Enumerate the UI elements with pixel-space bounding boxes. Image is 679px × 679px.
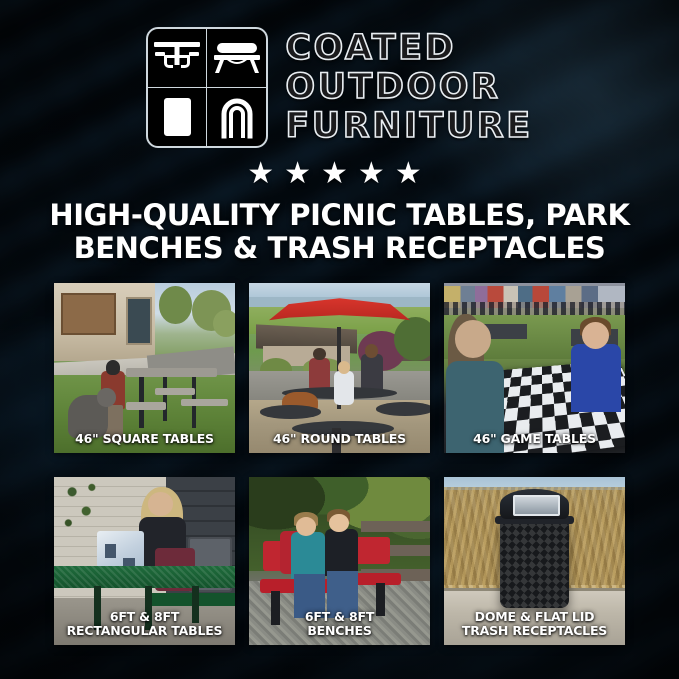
product-banner-poster: COATED OUTDOOR FURNITURE ★★★★★ HIGH-QUAL… xyxy=(0,0,679,679)
product-tile-trash-receptacles[interactable]: DOME & FLAT LID TRASH RECEPTACLES xyxy=(444,477,625,645)
tile-caption-line-1: 46" ROUND TABLES xyxy=(253,432,426,446)
park-bench-icon xyxy=(207,29,266,88)
wordmark-line-1: COATED xyxy=(285,29,532,67)
brand-logo-lockup: COATED OUTDOOR FURNITURE xyxy=(0,27,679,148)
brand-wordmark: COATED OUTDOOR FURNITURE xyxy=(285,27,532,145)
product-category-grid: 46" SQUARE TABLES xyxy=(54,283,626,645)
product-tile-rectangular-tables[interactable]: 6FT & 8FT RECTANGULAR TABLES xyxy=(54,477,235,645)
wordmark-line-3: FURNITURE xyxy=(285,107,532,145)
logo-icon-grid xyxy=(146,27,268,148)
tile-caption: 6FT & 8FT RECTANGULAR TABLES xyxy=(58,610,231,638)
tile-caption: 46" ROUND TABLES xyxy=(253,432,426,446)
tile-caption-line-2: TRASH RECEPTACLES xyxy=(448,624,621,638)
tile-caption-line-1: 6FT & 8FT xyxy=(58,610,231,624)
star-rating-glyphs: ★★★★★ xyxy=(247,158,431,190)
tile-caption: 6FT & 8FT BENCHES xyxy=(253,610,426,638)
photo-square-tables xyxy=(54,283,235,453)
tile-caption: 46" GAME TABLES xyxy=(448,432,621,446)
tile-caption-line-1: 6FT & 8FT xyxy=(253,610,426,624)
tile-caption-line-1: 46" GAME TABLES xyxy=(448,432,621,446)
headline-line-1: HIGH-QUALITY PICNIC TABLES, PARK xyxy=(49,198,629,232)
product-tile-game-tables[interactable]: 46" GAME TABLES xyxy=(444,283,625,453)
photo-round-tables xyxy=(249,283,430,453)
bike-rack-icon xyxy=(207,88,266,147)
tile-caption: DOME & FLAT LID TRASH RECEPTACLES xyxy=(448,610,621,638)
product-tile-benches[interactable]: 6FT & 8FT BENCHES xyxy=(249,477,430,645)
photo-game-tables xyxy=(444,283,625,453)
star-rating: ★★★★★ xyxy=(0,158,679,190)
tile-caption-line-1: DOME & FLAT LID xyxy=(448,610,621,624)
product-tile-round-tables[interactable]: 46" ROUND TABLES xyxy=(249,283,430,453)
headline-line-2: BENCHES & TRASH RECEPTACLES xyxy=(24,232,655,265)
tile-caption: 46" SQUARE TABLES xyxy=(58,432,231,446)
trash-receptacle-icon xyxy=(148,88,207,147)
product-tile-square-tables[interactable]: 46" SQUARE TABLES xyxy=(54,283,235,453)
page-title: HIGH-QUALITY PICNIC TABLES, PARK BENCHES… xyxy=(24,199,655,265)
wordmark-line-2: OUTDOOR xyxy=(285,68,532,106)
picnic-table-icon xyxy=(148,29,207,88)
tile-caption-line-2: BENCHES xyxy=(253,624,426,638)
tile-caption-line-1: 46" SQUARE TABLES xyxy=(58,432,231,446)
tile-caption-line-2: RECTANGULAR TABLES xyxy=(58,624,231,638)
